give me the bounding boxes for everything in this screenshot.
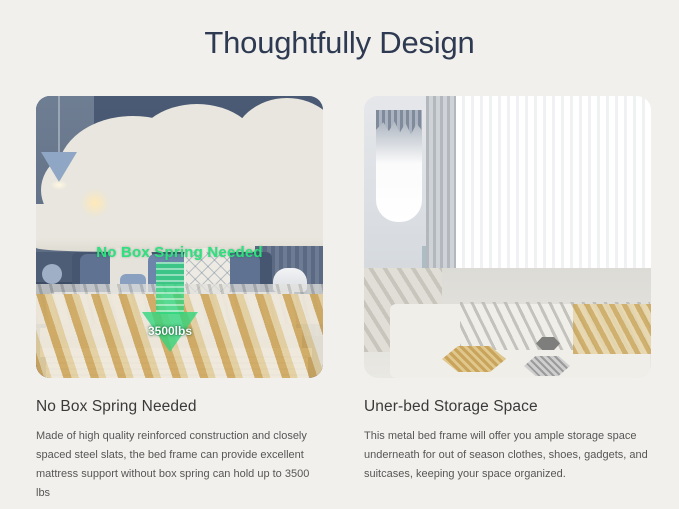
nightstand-decor [42,264,62,284]
card-heading: Uner-bed Storage Space [364,398,651,416]
feature-card-no-box-spring: No Box Spring Needed 3500lbs No Box Spri… [36,96,323,503]
feature-card-under-bed-storage: Uner-bed Storage Space This metal bed fr… [364,96,651,484]
photo-kids-bedroom: No Box Spring Needed 3500lbs [36,96,323,378]
pendant-lamp-icon [41,152,77,182]
page-title: Thoughtfully Design [0,25,679,61]
pendant-lamp-glow [50,180,68,190]
overlay-headline: No Box Spring Needed [36,244,323,261]
weight-capacity-label: 3500lbs [134,324,206,338]
arrow-stem-texture [156,262,184,314]
pendant-lamp-cord [58,96,60,154]
rug-gold-section [573,304,651,354]
card-body: This metal bed frame will offer you ampl… [364,427,651,484]
photo-under-bed-storage [364,96,651,378]
card-body: Made of high quality reinforced construc… [36,427,323,503]
card-heading: No Box Spring Needed [36,398,323,416]
load-arrow-graphic: 3500lbs [140,262,200,358]
wall-light-halo [80,188,110,218]
